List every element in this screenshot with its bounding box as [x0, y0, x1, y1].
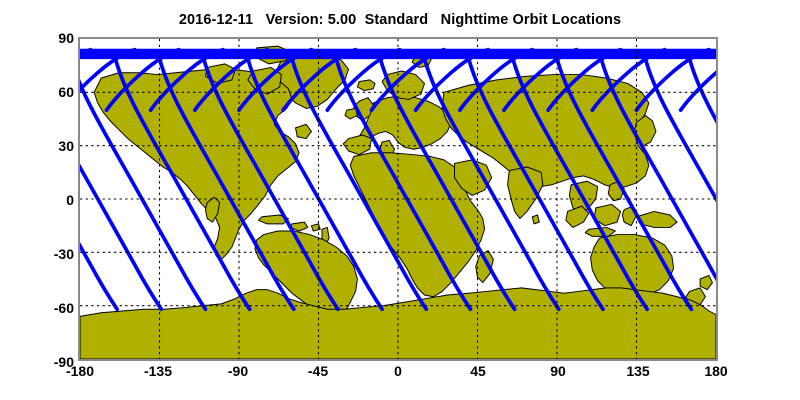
- land-sri-lanka: [532, 215, 539, 224]
- x-tick-label: 45: [470, 364, 486, 378]
- orbit-map-figure: 2016-12-11 Version: 5.00 Standard Nightt…: [0, 0, 800, 400]
- y-tick-label: 60: [40, 85, 74, 99]
- y-tick-label: 30: [40, 139, 74, 153]
- figure-title: 2016-12-11 Version: 5.00 Standard Nightt…: [0, 12, 800, 28]
- x-axis-labels: -180 -135 -90 -45 0 45 90 135 180: [0, 364, 800, 386]
- map-svg: [80, 39, 716, 359]
- x-tick-label: -135: [144, 364, 172, 378]
- x-tick-label: 135: [626, 364, 649, 378]
- y-tick-label: 0: [40, 193, 74, 207]
- x-tick-label: -90: [228, 364, 248, 378]
- y-tick-label: 90: [40, 31, 74, 45]
- x-tick-label: 180: [704, 364, 727, 378]
- y-tick-label: -30: [40, 247, 74, 261]
- y-tick-label: -60: [40, 301, 74, 315]
- x-tick-label: -45: [308, 364, 328, 378]
- x-tick-label: -180: [66, 364, 94, 378]
- map-plot-area: [78, 37, 718, 361]
- map-canvas: [80, 39, 716, 359]
- x-tick-label: 90: [550, 364, 566, 378]
- x-tick-label: 0: [394, 364, 402, 378]
- y-axis-labels: 90 60 30 0 -30 -60 -90: [32, 0, 74, 400]
